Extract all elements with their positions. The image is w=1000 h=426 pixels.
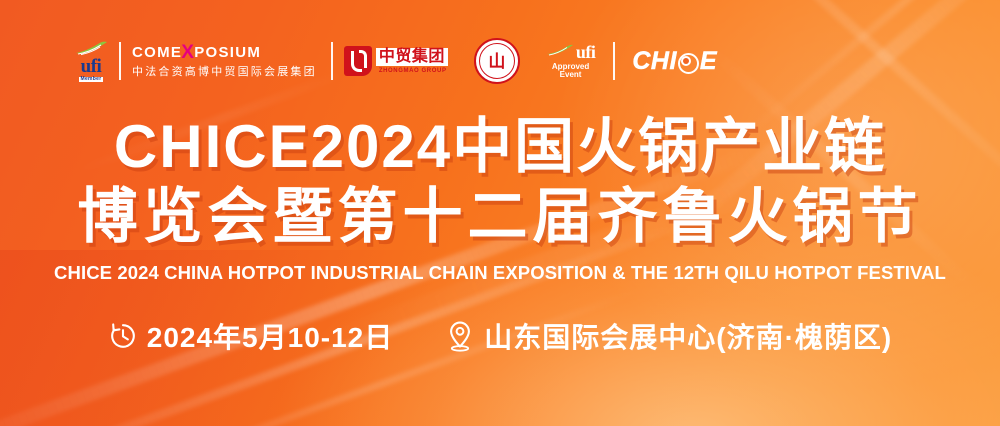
comexposium-part-2: POSIUM bbox=[194, 45, 261, 61]
event-date: 2024年5月10-12日 bbox=[108, 316, 393, 356]
event-date-text: 2024年5月10-12日 bbox=[147, 316, 393, 356]
event-banner: ufi Member COMEXPOSIUM 中法合资高博中贸国际会展集团 中贸… bbox=[0, 0, 1000, 426]
comexposium-chinese-name: 中法合资高博中贸国际会展集团 bbox=[132, 66, 317, 80]
headline-block: CHICE2024中国火锅产业链 博览会暨第十二届齐鲁火锅节 bbox=[0, 112, 1000, 251]
headline-line-2: 博览会暨第十二届齐鲁火锅节 bbox=[0, 182, 1000, 252]
event-location: 山东国际会展中心(济南·槐荫区) bbox=[445, 316, 892, 356]
comexposium-part-1: COME bbox=[132, 45, 182, 61]
event-location-text: 山东国际会展中心(济南·槐荫区) bbox=[484, 316, 892, 356]
ufi-member-wordmark: ufi bbox=[81, 57, 102, 76]
zhongmao-group-logo: 中贸集团 ZHONGMAO GROUP bbox=[344, 36, 448, 86]
chice-logo-part-2: E bbox=[700, 49, 717, 74]
logo-divider bbox=[331, 42, 333, 80]
clock-icon bbox=[108, 321, 138, 351]
zhongmao-english-name: ZHONGMAO GROUP bbox=[376, 68, 448, 74]
ufi-wing-icon bbox=[74, 41, 108, 56]
seal-glyph: 山 bbox=[488, 53, 505, 70]
light-streak bbox=[57, 286, 642, 426]
zhongmao-chinese-name: 中贸集团 bbox=[376, 48, 448, 66]
ufi-approved-line2: Event bbox=[552, 71, 589, 79]
ufi-approved-wordmark: ufi bbox=[576, 43, 596, 62]
chice-logo: CHIE bbox=[632, 36, 717, 86]
zhongmao-mark-icon bbox=[344, 46, 372, 76]
ufi-member-subtext: Member bbox=[79, 77, 104, 82]
hotpot-icon bbox=[678, 53, 699, 74]
headline-subtitle-english: CHICE 2024 CHINA HOTPOT INDUSTRIAL CHAIN… bbox=[0, 262, 1000, 284]
logo-divider bbox=[119, 42, 121, 80]
ufi-member-logo: ufi Member bbox=[74, 36, 108, 86]
event-info-row: 2024年5月10-12日 山东国际会展中心(济南·槐荫区) bbox=[0, 316, 1000, 356]
ufi-approved-event-logo: ufi Approved Event bbox=[546, 36, 596, 86]
logo-strip: ufi Member COMEXPOSIUM 中法合资高博中贸国际会展集团 中贸… bbox=[74, 36, 717, 86]
map-pin-icon bbox=[445, 320, 475, 352]
chice-logo-part-1: CHI bbox=[632, 49, 677, 74]
comexposium-x-letter: X bbox=[181, 43, 195, 63]
comexposium-logo: COMEXPOSIUM 中法合资高博中贸国际会展集团 bbox=[132, 36, 317, 86]
headline-line-1: CHICE2024中国火锅产业链 bbox=[0, 112, 1000, 182]
association-seal-logo: 山 bbox=[474, 36, 520, 86]
ufi-approved-wing-icon bbox=[546, 44, 574, 62]
logo-divider bbox=[613, 42, 615, 80]
